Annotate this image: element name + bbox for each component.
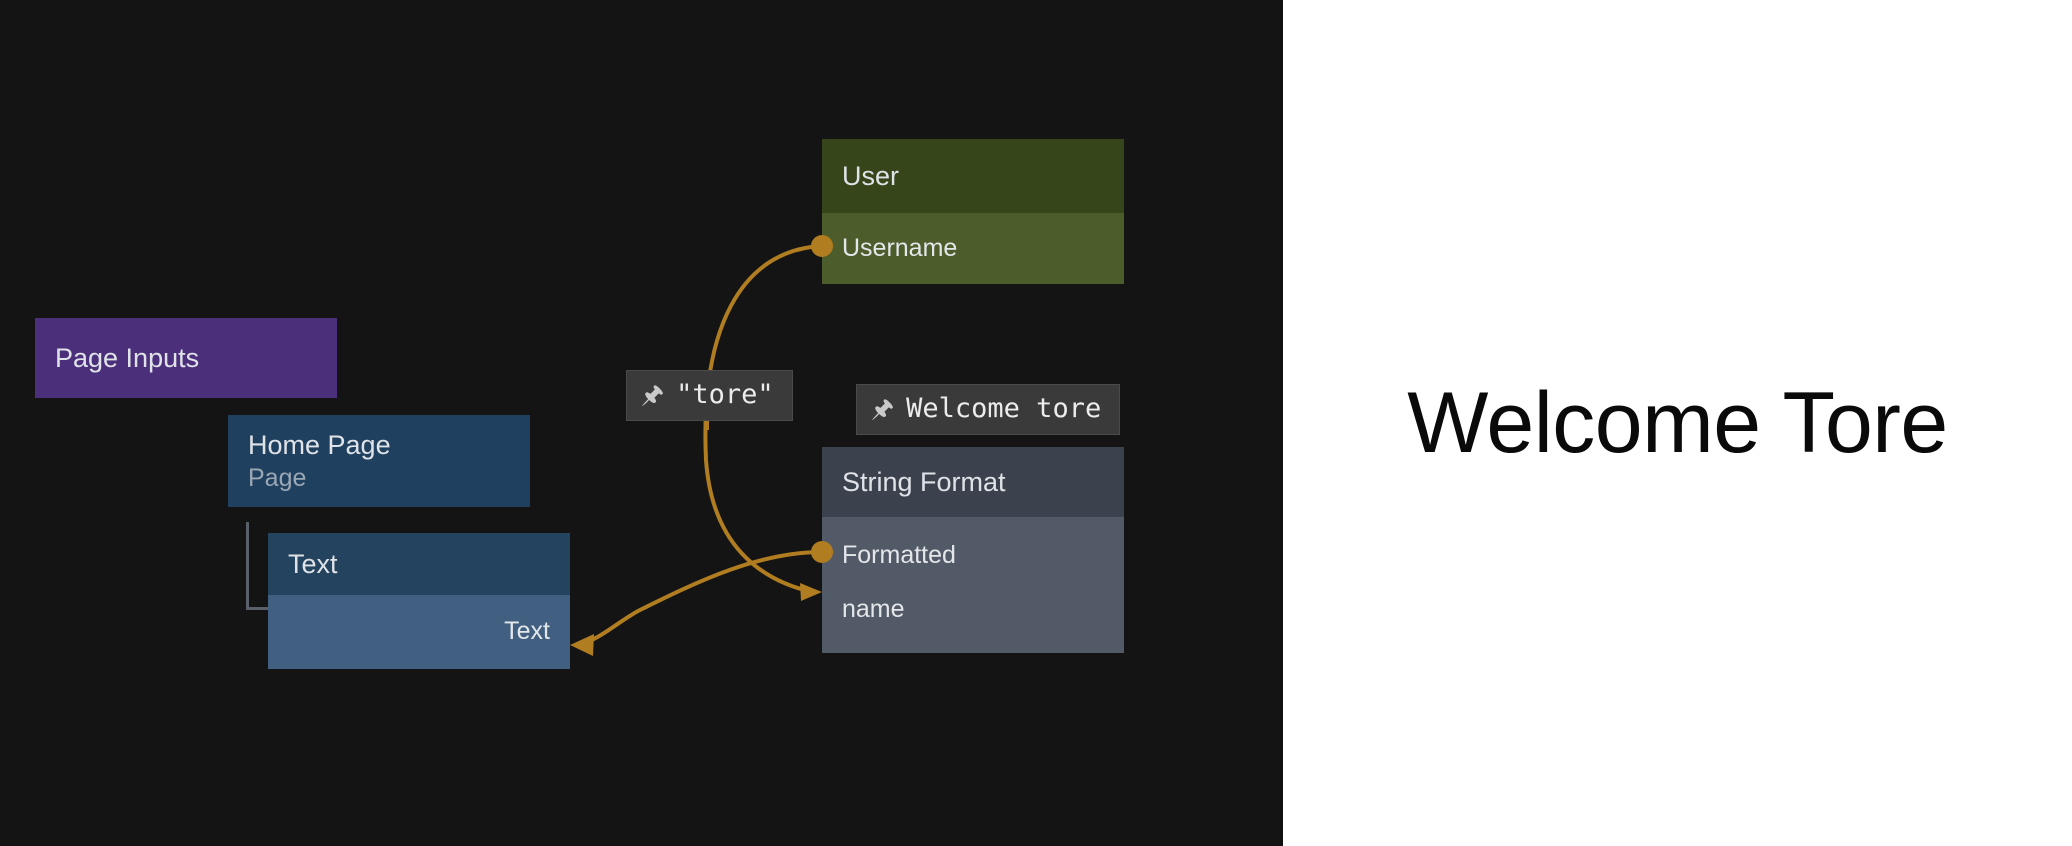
wire-formatted-to-text bbox=[578, 552, 822, 645]
node-text-row-text-label: Text bbox=[504, 618, 550, 646]
node-text-title: Text bbox=[268, 533, 570, 595]
node-graph-canvas[interactable]: Page Inputs Home Page Page Text Text Use… bbox=[0, 0, 1280, 846]
node-page-inputs[interactable]: Page Inputs bbox=[35, 318, 337, 398]
pin-tooltip-tore-value: "tore" bbox=[676, 380, 774, 410]
node-string-format-title: String Format bbox=[822, 447, 1124, 517]
port-formatted-output-circle-icon[interactable] bbox=[811, 541, 835, 565]
pin-tooltip-welcome-value: Welcome tore bbox=[906, 394, 1101, 424]
wire-arrowhead-text bbox=[570, 634, 594, 656]
pin-tooltip-tore[interactable]: 🖈 "tore" bbox=[626, 370, 793, 421]
node-home-page-title: Home Page bbox=[248, 429, 510, 463]
pushpin-icon: 🖈 bbox=[871, 396, 894, 421]
pin-tooltip-welcome[interactable]: 🖈 Welcome tore bbox=[856, 384, 1120, 435]
node-user-row-username[interactable]: Username bbox=[822, 213, 1124, 284]
node-user-row-username-label: Username bbox=[842, 235, 957, 263]
wire-arrowhead-name bbox=[800, 583, 822, 601]
node-string-format-row-formatted-label: Formatted bbox=[842, 542, 956, 570]
node-string-format-row-name-label: name bbox=[842, 596, 905, 624]
node-page-inputs-title: Page Inputs bbox=[35, 318, 337, 398]
node-string-format-row-formatted[interactable]: Formatted bbox=[822, 529, 1124, 583]
node-text-row-text[interactable]: Text bbox=[268, 595, 570, 669]
node-string-format[interactable]: String Format Formatted name bbox=[822, 447, 1124, 653]
pushpin-icon: 🖈 bbox=[641, 382, 664, 407]
node-home-page-subtitle: Page bbox=[248, 463, 510, 493]
port-username-output-circle-icon[interactable] bbox=[811, 235, 835, 259]
node-user-title: User bbox=[822, 139, 1124, 213]
node-home-page[interactable]: Home Page Page bbox=[228, 415, 530, 507]
node-user[interactable]: User Username bbox=[822, 139, 1124, 284]
node-string-format-body: Formatted name bbox=[822, 517, 1124, 653]
node-text[interactable]: Text Text bbox=[268, 533, 570, 669]
node-string-format-row-name[interactable]: name bbox=[822, 583, 1124, 637]
preview-heading: Welcome Tore bbox=[1407, 374, 1948, 473]
app-root: Page Inputs Home Page Page Text Text Use… bbox=[0, 0, 2072, 846]
preview-panel: Welcome Tore bbox=[1283, 0, 2072, 846]
node-home-page-body: Home Page Page bbox=[228, 415, 530, 507]
